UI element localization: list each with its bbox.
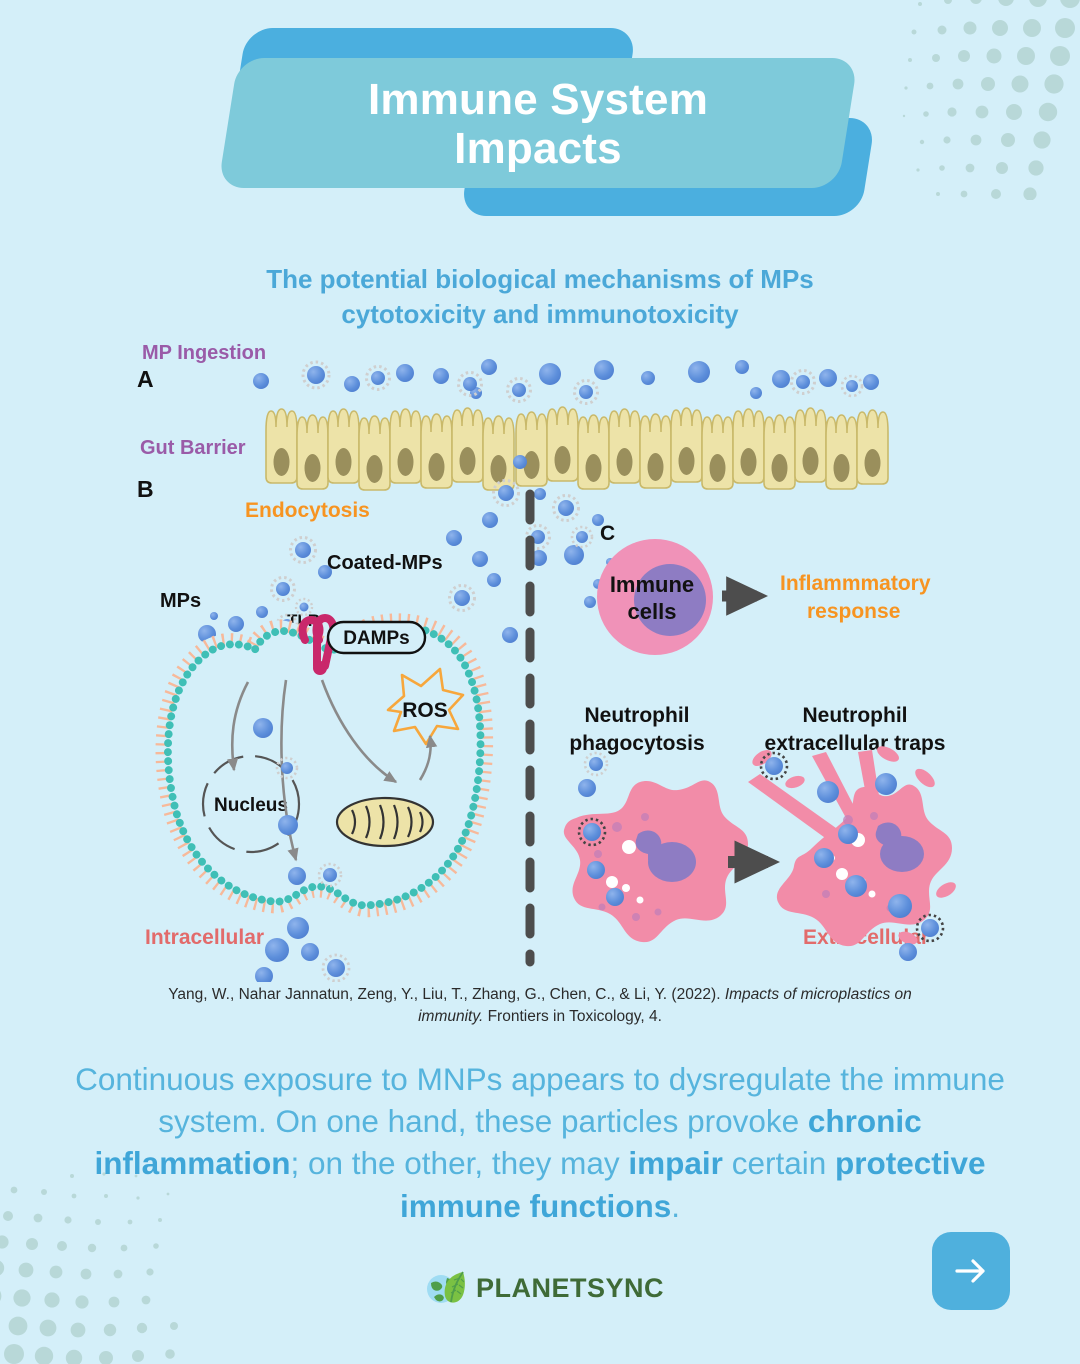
label-coated-mps: Coated-MPs: [327, 552, 443, 574]
label-intracellular: Intracellular: [145, 926, 264, 949]
neutrophil-phagocytosis-cell: [564, 753, 748, 942]
label-endocytosis: Endocytosis: [245, 499, 370, 522]
label-immune-cells-line2: cells: [628, 599, 677, 624]
page-title-line-1: Immune System: [368, 75, 708, 124]
citation-source: Frontiers in Toxicology, 4.: [483, 1008, 662, 1025]
damps-badge: DAMPs: [328, 622, 425, 653]
label-neutrophil-nets-line1: Neutrophil: [803, 704, 908, 727]
halftone-decoration-top-right: [900, 0, 1080, 200]
summary-bold-2: impair: [628, 1145, 723, 1181]
mp-particles-above-barrier: [253, 359, 879, 404]
gut-barrier-epithelium: [266, 407, 888, 490]
immune-cell-group: Immune cells Inflammmatory response: [597, 539, 931, 655]
arrow-right-icon: [951, 1256, 991, 1286]
mp-particles-exiting-cell: [255, 917, 345, 982]
svg-text:Nucleus: Nucleus: [214, 795, 288, 816]
globe-leaf-icon: [425, 1269, 467, 1307]
label-neutrophil-phagocytosis-line1: Neutrophil: [585, 704, 690, 727]
neutrophil-nets-cell: [748, 743, 959, 961]
panel-label-a: A: [137, 366, 154, 392]
summary-text: Continuous exposure to MNPs appears to d…: [52, 1058, 1028, 1227]
svg-text:ROS: ROS: [402, 699, 448, 722]
title-banner: Immune System Impacts: [228, 28, 868, 208]
mechanism-diagram: MP Ingestion A Gut Barrier B Endocytosis…: [0, 262, 1080, 982]
label-immune-cells-line1: Immune: [610, 572, 694, 597]
page-title: Immune System Impacts: [228, 60, 848, 188]
label-mp-ingestion: MP Ingestion: [142, 342, 266, 364]
label-neutrophil-phagocytosis-line2: phagocytosis: [569, 732, 704, 755]
summary-segment-4: .: [671, 1188, 680, 1224]
mitochondrion: [337, 798, 433, 846]
figure-container: The potential biological mechanisms of M…: [0, 262, 1080, 1042]
panel-label-c: C: [600, 522, 615, 545]
summary-segment-2: ; on the other, they may: [290, 1145, 628, 1181]
page-title-line-2: Impacts: [454, 124, 622, 173]
brand-name: PLANETSYNC: [476, 1273, 664, 1304]
panel-label-b: B: [137, 476, 154, 502]
infographic-canvas: Immune System Impacts The potential biol…: [0, 0, 1080, 1350]
label-mps: MPs: [160, 590, 201, 612]
label-inflammatory-line1: Inflammmatory: [780, 572, 931, 595]
label-inflammatory-line2: response: [807, 600, 900, 623]
label-gut-barrier: Gut Barrier: [140, 437, 246, 459]
brand-logo: PLANETSYNC: [425, 1268, 664, 1308]
figure-citation: Yang, W., Nahar Jannatun, Zeng, Y., Liu,…: [140, 984, 940, 1029]
svg-text:DAMPs: DAMPs: [343, 628, 410, 649]
next-button[interactable]: [932, 1232, 1010, 1310]
label-neutrophil-nets-line2: extracellular traps: [765, 732, 946, 755]
citation-authors: Yang, W., Nahar Jannatun, Zeng, Y., Liu,…: [168, 986, 725, 1003]
summary-segment-3: certain: [723, 1145, 835, 1181]
